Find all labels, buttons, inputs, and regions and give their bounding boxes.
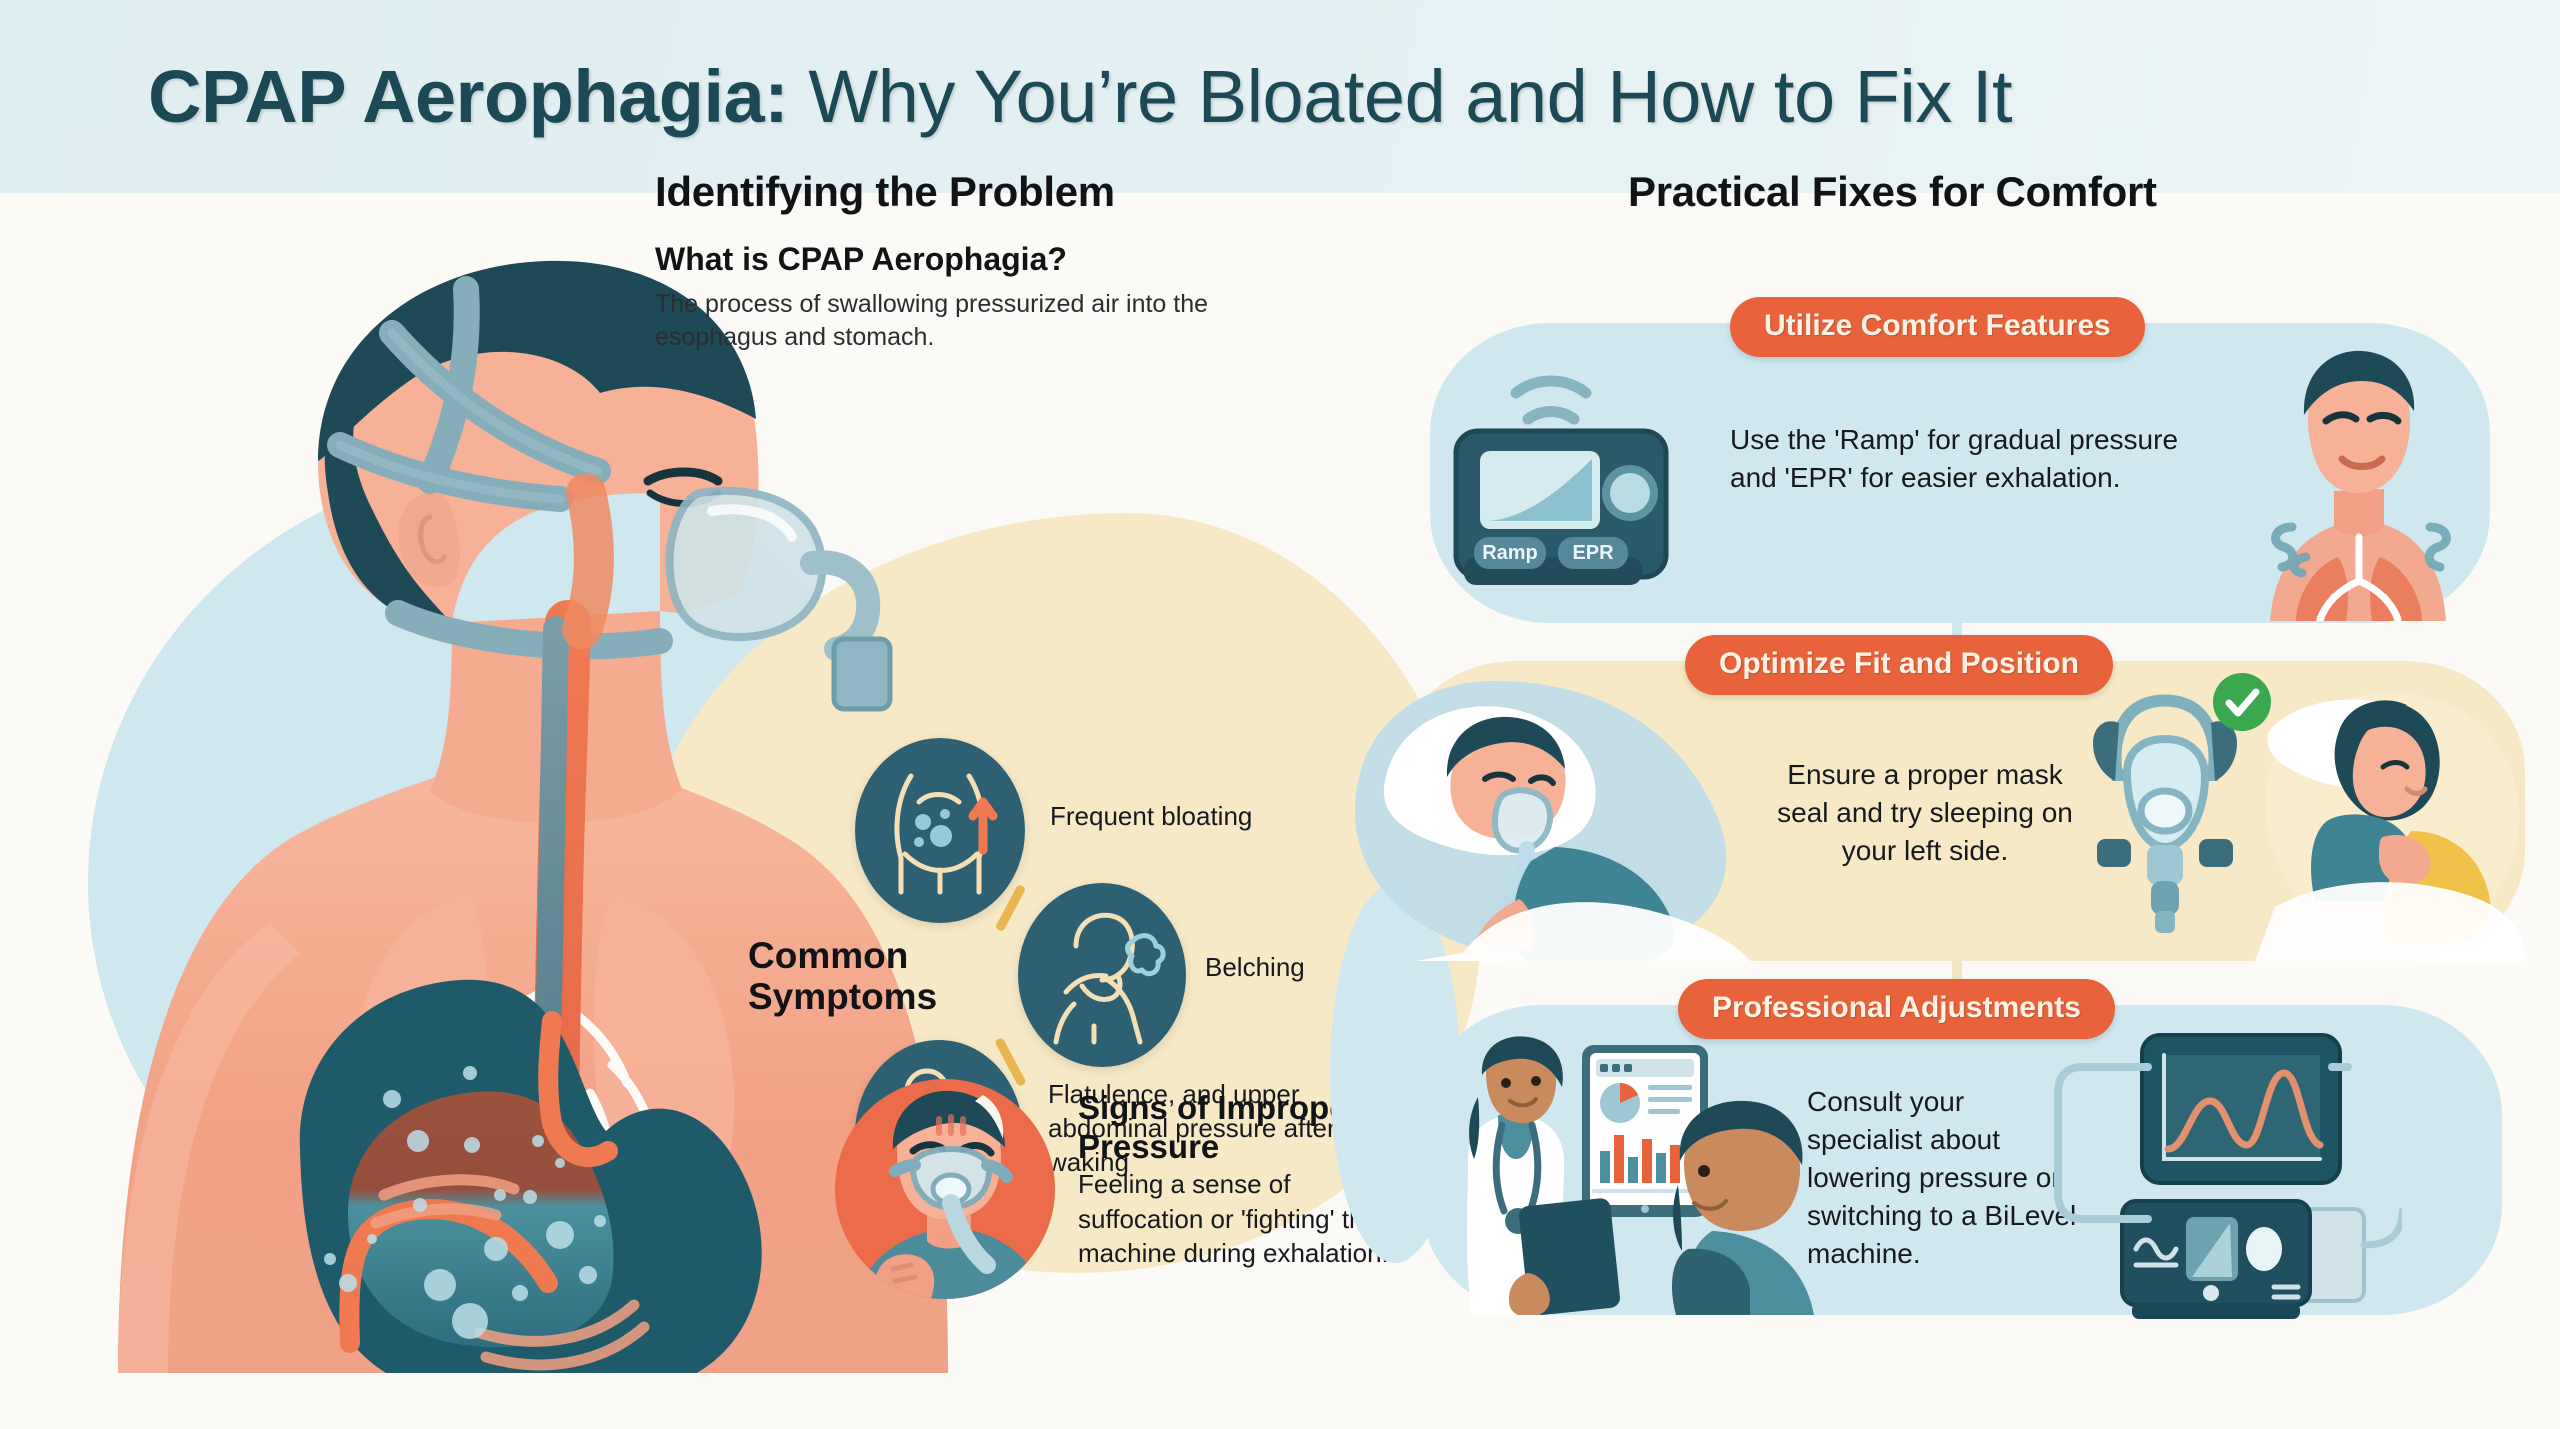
belching-person-icon bbox=[1018, 883, 1186, 1067]
page-title: CPAP Aerophagia: Why You’re Bloated and … bbox=[148, 54, 2012, 139]
panel-professional-adjustments[interactable]: Professional Adjustments bbox=[1422, 1005, 2502, 1315]
page-title-light: Why You’re Bloated and How to Fix It bbox=[788, 55, 2012, 138]
page-title-strong: CPAP Aerophagia: bbox=[148, 55, 788, 138]
panel-utilize-comfort-features[interactable]: Utilize Comfort Features Ramp EPR bbox=[1430, 323, 2490, 623]
machine-button-epr: EPR bbox=[1572, 542, 1614, 564]
woman-sleeping-left-side-icon bbox=[2255, 671, 2525, 966]
symptom-label-2: Belching bbox=[1205, 951, 1305, 985]
infographic-canvas: Identifying the Problem What is CPAP Aer… bbox=[0, 193, 2560, 1429]
common-symptoms-label: Common Symptoms bbox=[748, 935, 978, 1018]
panel-pill-label: Professional Adjustments bbox=[1678, 979, 2115, 1039]
what-is-body: The process of swallowing pressurized ai… bbox=[655, 288, 1295, 354]
panel-pill-label: Utilize Comfort Features bbox=[1730, 297, 2145, 357]
man-sleeping-mask-icon bbox=[1355, 661, 1775, 966]
symptom-label-1: Frequent bloating bbox=[1050, 800, 1252, 834]
panel-optimize-fit-and-position[interactable]: Optimize Fit and Position bbox=[1395, 661, 2525, 961]
left-column-heading: Identifying the Problem bbox=[655, 168, 1115, 216]
machine-button-ramp: Ramp bbox=[1482, 542, 1538, 564]
page-header: CPAP Aerophagia: Why You’re Bloated and … bbox=[0, 0, 2560, 193]
relaxed-breathing-lungs-icon bbox=[2230, 331, 2480, 626]
doctor-and-patient-consult-icon bbox=[1432, 1035, 1852, 1320]
cpap-machine-icon: Ramp EPR bbox=[1440, 353, 1710, 608]
panel-body-text: Use the 'Ramp' for gradual pressure and … bbox=[1730, 421, 2230, 497]
tube-connector-lines bbox=[2042, 1045, 2362, 1280]
right-column-heading: Practical Fixes for Comfort bbox=[1628, 168, 2157, 216]
panel-body-text: Ensure a proper mask seal and try sleepi… bbox=[1770, 756, 2080, 870]
bloated-abdomen-icon bbox=[855, 738, 1025, 923]
man-struggling-mask-icon bbox=[835, 1079, 1055, 1299]
what-is-title: What is CPAP Aerophagia? bbox=[655, 241, 1067, 278]
